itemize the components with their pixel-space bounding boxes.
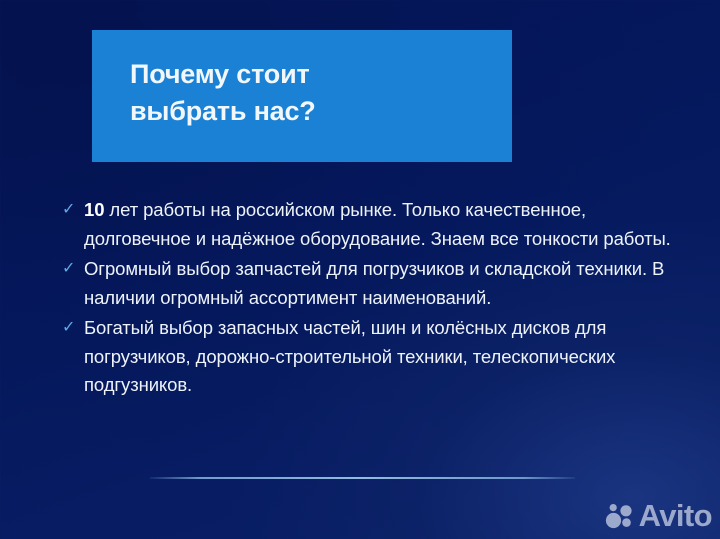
avito-watermark: Avito: [604, 500, 712, 531]
list-item-body: Богатый выбор запасных частей, шин и кол…: [84, 317, 615, 395]
slide-canvas: Почему стоит выбрать нас? ✓ 10 лет работ…: [0, 0, 720, 539]
list-item-lead: 10: [84, 199, 104, 220]
page-title-line-2: выбрать нас?: [130, 93, 512, 130]
list-item-text: Богатый выбор запасных частей, шин и кол…: [84, 314, 680, 400]
check-icon: ✓: [60, 196, 84, 224]
benefits-list: ✓ 10 лет работы на российском рынке. Тол…: [60, 196, 680, 402]
avito-logo-icon: [604, 503, 634, 529]
list-item-body: лет работы на российском рынке. Только к…: [84, 199, 671, 249]
check-icon: ✓: [60, 314, 84, 342]
avito-wordmark: Avito: [639, 500, 712, 531]
list-item-body: Огромный выбор запчастей для погрузчиков…: [84, 258, 664, 308]
list-item-text: 10 лет работы на российском рынке. Тольк…: [84, 196, 680, 253]
list-item: ✓ 10 лет работы на российском рынке. Тол…: [60, 196, 680, 253]
title-banner: Почему стоит выбрать нас?: [92, 30, 512, 162]
divider: [150, 477, 575, 479]
list-item: ✓ Огромный выбор запчастей для погрузчик…: [60, 255, 680, 312]
page-title-line-1: Почему стоит: [130, 56, 512, 93]
list-item-text: Огромный выбор запчастей для погрузчиков…: [84, 255, 680, 312]
check-icon: ✓: [60, 255, 84, 283]
list-item: ✓ Богатый выбор запасных частей, шин и к…: [60, 314, 680, 400]
